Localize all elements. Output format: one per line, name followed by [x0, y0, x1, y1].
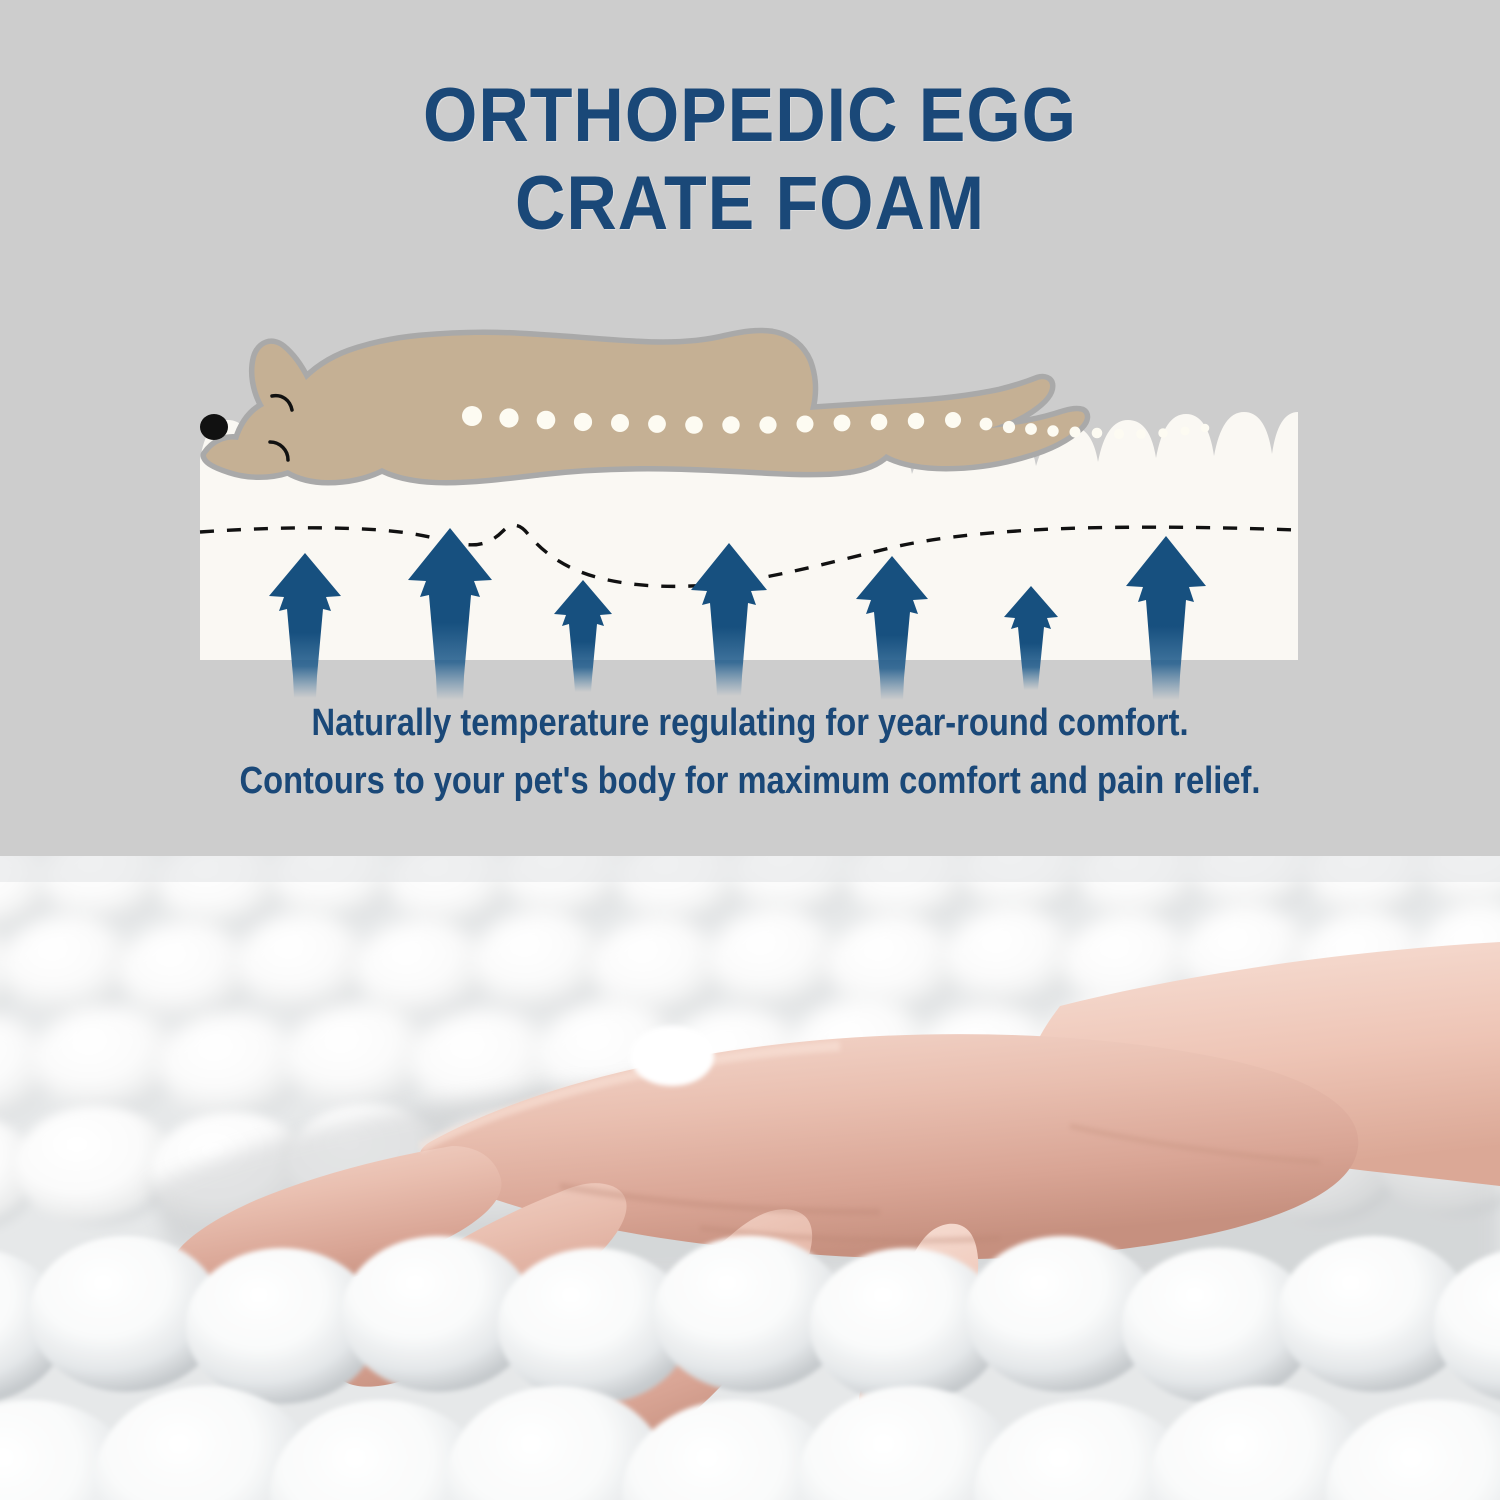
caption-line-1: Naturally temperature regulating for yea…: [105, 694, 1395, 752]
foam-bumps-near: [0, 1236, 1500, 1500]
foam-support-diagram: [0, 300, 1500, 700]
title-line-2: CRATE FOAM: [60, 160, 1440, 248]
page-title: ORTHOPEDIC EGG CRATE FOAM: [0, 72, 1500, 248]
caption: Naturally temperature regulating for yea…: [0, 694, 1500, 810]
dog-nose-icon: [200, 414, 228, 440]
caption-line-2: Contours to your pet's body for maximum …: [105, 752, 1395, 810]
info-panel: ORTHOPEDIC EGG CRATE FOAM: [0, 0, 1500, 856]
product-infographic: ORTHOPEDIC EGG CRATE FOAM: [0, 0, 1500, 1500]
hand-on-foam-photo: [0, 856, 1500, 1500]
foam-photo: [0, 856, 1500, 1500]
title-line-1: ORTHOPEDIC EGG: [60, 72, 1440, 160]
